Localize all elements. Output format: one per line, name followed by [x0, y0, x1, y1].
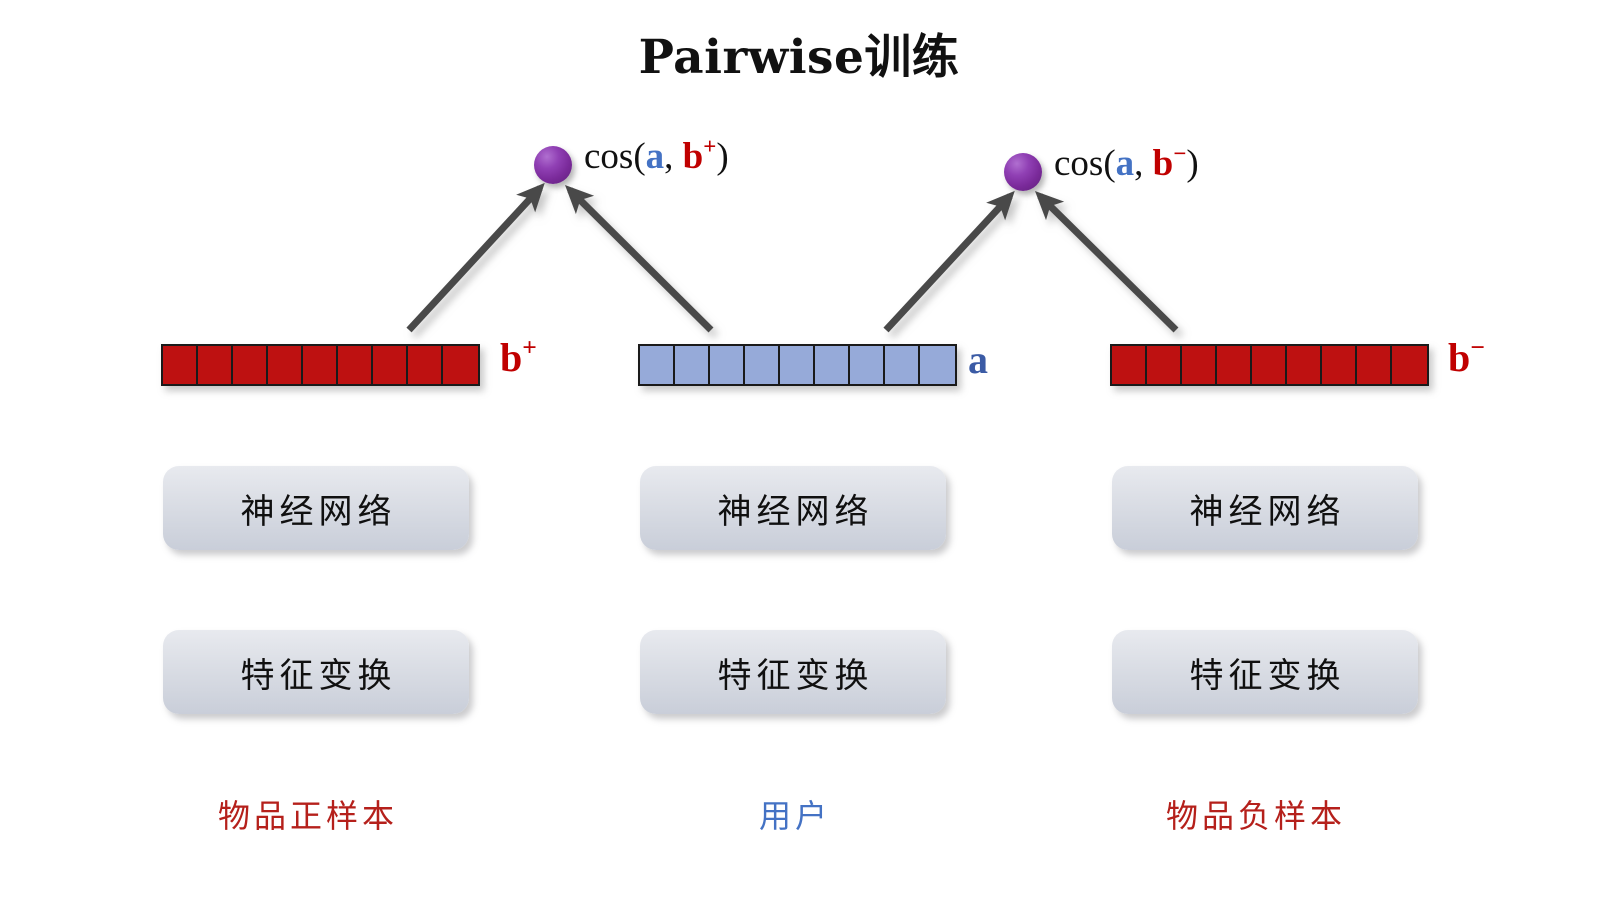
b-plus-label-superscript: +	[522, 333, 537, 362]
vector-cell	[640, 346, 675, 384]
cos-suffix-positive: )	[716, 136, 728, 177]
neural-network-label-right: 神经网络	[1185, 484, 1346, 533]
neural-network-box-middle[interactable]: 神经网络	[640, 466, 946, 550]
vector-cell	[303, 346, 338, 384]
b-minus-label-base: b	[1448, 335, 1470, 380]
vector-cell	[1182, 346, 1217, 384]
vector-cell	[338, 346, 373, 384]
vector-cell	[745, 346, 780, 384]
feature-transform-label-middle: 特征变换	[713, 648, 874, 697]
cos-separator-negative: ,	[1134, 143, 1153, 184]
feature-transform-box-left[interactable]: 特征变换	[163, 630, 469, 714]
arrow-bplus-to-cos	[409, 188, 540, 330]
vector-cell	[1112, 346, 1147, 384]
vector-cell	[920, 346, 955, 384]
feature-transform-label-left: 特征变换	[236, 648, 397, 697]
source-label-positive-item: 物品正样本	[218, 800, 398, 832]
vector-cell	[233, 346, 268, 384]
neural-network-label-middle: 神经网络	[713, 484, 874, 533]
cos-prefix-negative: cos(	[1054, 143, 1116, 184]
feature-transform-box-right[interactable]: 特征变换	[1112, 630, 1418, 714]
vector-cell	[408, 346, 443, 384]
arrows-to-left-node	[409, 188, 711, 330]
b-plus-vector-label: b+	[500, 338, 537, 378]
neural-network-box-left[interactable]: 神经网络	[163, 466, 469, 550]
vector-cell	[443, 346, 478, 384]
feature-transform-box-middle[interactable]: 特征变换	[640, 630, 946, 714]
neural-network-box-right[interactable]: 神经网络	[1112, 466, 1418, 550]
vector-cell	[885, 346, 920, 384]
vector-cell	[373, 346, 408, 384]
cos-node-negative[interactable]	[1004, 153, 1042, 191]
source-label-negative-item: 物品负样本	[1166, 800, 1346, 832]
vector-cell	[1357, 346, 1392, 384]
cos-operand-b-superscript-negative: −	[1173, 141, 1186, 166]
vector-cell	[710, 346, 745, 384]
diagram-canvas: Pairwise训练	[0, 0, 1598, 898]
a-label-base: a	[968, 337, 988, 382]
b-minus-vector[interactable]	[1110, 344, 1429, 386]
cos-positive-label: cos(a, b+)	[584, 138, 729, 175]
vector-cell	[198, 346, 233, 384]
cos-operand-a-negative: a	[1116, 143, 1135, 184]
vector-cell	[1147, 346, 1182, 384]
b-plus-vector[interactable]	[161, 344, 480, 386]
vector-cell	[268, 346, 303, 384]
feature-transform-label-right: 特征变换	[1185, 648, 1346, 697]
arrow-a-to-cos-minus	[886, 196, 1010, 330]
vector-cell	[780, 346, 815, 384]
vector-cell	[1252, 346, 1287, 384]
cos-operand-b-superscript-positive: +	[703, 134, 716, 159]
a-vector[interactable]	[638, 344, 957, 386]
source-label-user: 用户	[759, 800, 831, 832]
vector-cell	[1287, 346, 1322, 384]
cos-negative-label: cos(a, b−)	[1054, 145, 1199, 182]
vector-cell	[675, 346, 710, 384]
neural-network-label-left: 神经网络	[236, 484, 397, 533]
cos-separator-positive: ,	[664, 136, 683, 177]
vector-cell	[163, 346, 198, 384]
arrow-layer	[0, 0, 1598, 898]
vector-cell	[850, 346, 885, 384]
cos-prefix-positive: cos(	[584, 136, 646, 177]
cos-node-positive[interactable]	[534, 146, 572, 184]
cos-operand-a-positive: a	[646, 136, 665, 177]
vector-cell	[1217, 346, 1252, 384]
vector-cell	[1322, 346, 1357, 384]
arrow-bminus-to-cos	[1040, 196, 1176, 330]
b-minus-vector-label: b−	[1448, 338, 1485, 378]
arrows-to-right-node	[886, 196, 1176, 330]
cos-suffix-negative: )	[1186, 143, 1198, 184]
vector-cell	[1392, 346, 1427, 384]
a-vector-label: a	[968, 340, 988, 380]
vector-cell	[815, 346, 850, 384]
b-minus-label-superscript: −	[1470, 333, 1485, 362]
cos-operand-b-negative: b	[1153, 143, 1174, 184]
arrow-a-to-cos-plus	[570, 190, 711, 330]
b-plus-label-base: b	[500, 335, 522, 380]
page-title: Pairwise训练	[0, 18, 1598, 87]
cos-operand-b-positive: b	[683, 136, 704, 177]
